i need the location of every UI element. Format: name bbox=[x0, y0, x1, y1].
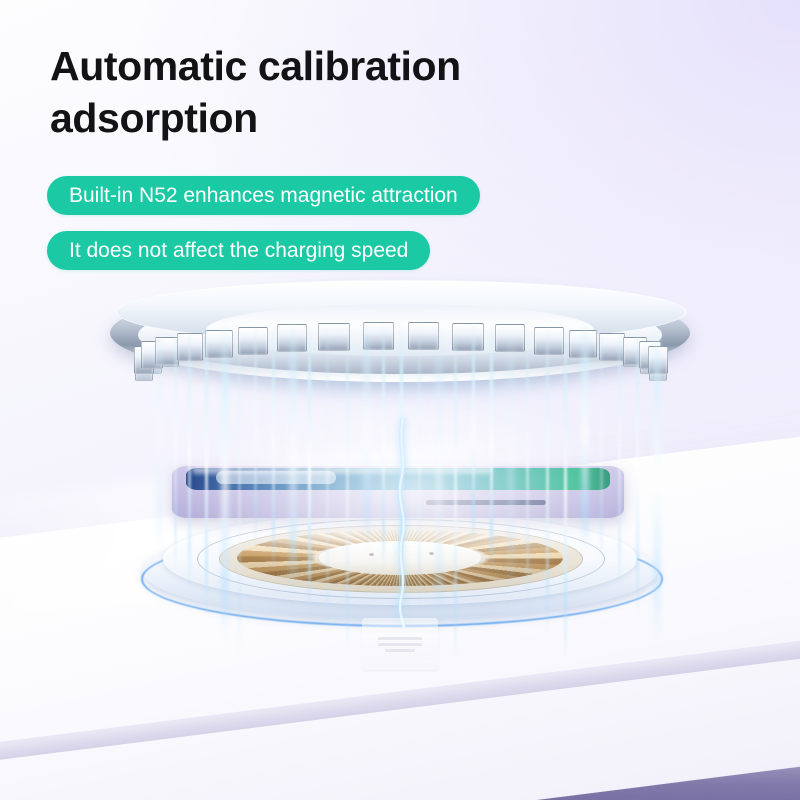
feature-badge-charge-speed: It does not affect the charging speed bbox=[47, 231, 430, 270]
energy-beam bbox=[546, 320, 549, 638]
energy-beam bbox=[418, 320, 421, 616]
energy-beam bbox=[272, 320, 275, 572]
lightning-arc-icon bbox=[388, 418, 418, 628]
energy-beam bbox=[472, 320, 475, 550]
energy-beam bbox=[188, 320, 191, 594]
energy-beam bbox=[326, 320, 329, 638]
page-title: Automatic calibration adsorption bbox=[50, 40, 670, 145]
feature-badge-label: It does not affect the charging speed bbox=[69, 239, 408, 263]
energy-beam bbox=[654, 320, 660, 638]
energy-beam bbox=[636, 320, 639, 616]
headline-line-1: Automatic calibration bbox=[50, 40, 670, 92]
headline-line-2: adsorption bbox=[50, 92, 670, 144]
emboss-line bbox=[385, 649, 415, 652]
energy-beam bbox=[508, 320, 514, 594]
energy-beam bbox=[564, 320, 567, 660]
energy-beam bbox=[490, 320, 493, 572]
energy-beam bbox=[156, 320, 162, 550]
energy-beam bbox=[205, 320, 208, 616]
energy-beam bbox=[346, 320, 349, 660]
embossed-mark bbox=[362, 618, 438, 670]
feature-badge-magnet-strength: Built-in N52 enhances magnetic attractio… bbox=[47, 176, 480, 215]
energy-beam bbox=[526, 320, 529, 616]
energy-beam bbox=[174, 320, 177, 572]
energy-beam bbox=[290, 320, 296, 594]
feature-badge-label: Built-in N52 enhances magnetic attractio… bbox=[69, 184, 458, 208]
energy-beam bbox=[454, 320, 457, 660]
energy-beam bbox=[618, 320, 621, 594]
energy-beam bbox=[364, 320, 370, 550]
emboss-line bbox=[378, 643, 422, 646]
energy-beam bbox=[600, 320, 603, 572]
energy-beam bbox=[436, 320, 442, 638]
energy-beam bbox=[582, 320, 588, 550]
energy-beam bbox=[254, 320, 257, 550]
emboss-line bbox=[378, 637, 422, 640]
product-banner: Automatic calibration adsorption Built-i… bbox=[0, 0, 800, 800]
energy-beam bbox=[308, 320, 311, 616]
energy-beam bbox=[238, 320, 241, 660]
energy-beam bbox=[222, 320, 228, 638]
energy-beam bbox=[382, 320, 385, 572]
